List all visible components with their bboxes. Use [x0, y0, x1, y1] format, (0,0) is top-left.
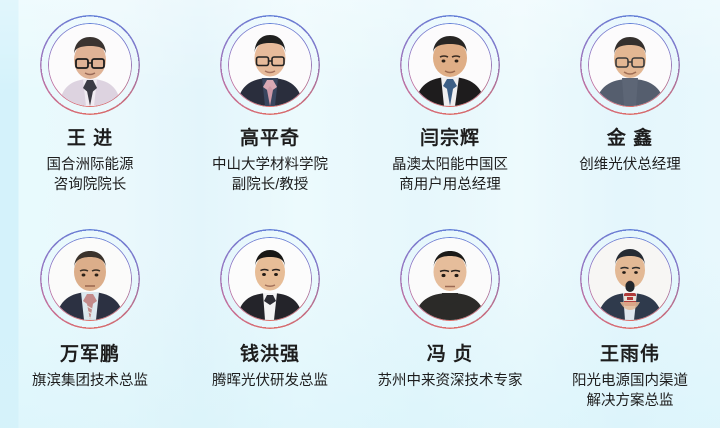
title-line: 副院长/教授 [212, 175, 328, 195]
title-line: 商用户用总经理 [392, 175, 508, 195]
speaker-title: 腾晖光伏研发总监 [212, 371, 328, 391]
title-line: 晶澳太阳能中国区 [392, 155, 508, 175]
portrait-photo [589, 24, 671, 106]
avatar [215, 224, 325, 334]
poster-canvas: 王 进 国合洲际能源 咨询院院长 [0, 0, 720, 428]
title-line: 中山大学材料学院 [212, 155, 328, 175]
speaker-title: 阳光电源国内渠道 解决方案总监 [572, 371, 688, 411]
portrait-photo [229, 238, 311, 320]
speaker-title: 晶澳太阳能中国区 商用户用总经理 [392, 155, 508, 195]
avatar [35, 10, 145, 120]
speaker-title: 旗滨集团技术总监 [32, 371, 148, 391]
speaker-title: 苏州中来资深技术专家 [378, 371, 523, 391]
portrait-photo [229, 24, 311, 106]
avatar [575, 10, 685, 120]
speaker-card[interactable]: 金 鑫 创维光伏总经理 [540, 0, 720, 214]
title-line: 创维光伏总经理 [579, 155, 681, 175]
title-line: 国合洲际能源 [47, 155, 134, 175]
speaker-name: 冯 贞 [427, 344, 473, 366]
speaker-name: 万军鹏 [60, 344, 120, 366]
speaker-name: 高平奇 [240, 128, 300, 150]
speaker-card[interactable]: 钱洪强 腾晖光伏研发总监 [180, 214, 360, 428]
speaker-name: 王雨伟 [600, 344, 660, 366]
speaker-card[interactable]: 王雨伟 阳光电源国内渠道 解决方案总监 [540, 214, 720, 428]
portrait-photo [49, 238, 131, 320]
portrait-photo [409, 24, 491, 106]
avatar [35, 224, 145, 334]
speaker-title: 国合洲际能源 咨询院院长 [47, 155, 134, 195]
speaker-name: 金 鑫 [607, 128, 653, 150]
portrait-photo [409, 238, 491, 320]
speaker-card[interactable]: 王 进 国合洲际能源 咨询院院长 [0, 0, 180, 214]
title-line: 阳光电源国内渠道 [572, 371, 688, 391]
avatar [395, 10, 505, 120]
speaker-card[interactable]: 万军鹏 旗滨集团技术总监 [0, 214, 180, 428]
portrait-photo [589, 238, 671, 320]
speaker-title: 创维光伏总经理 [579, 155, 681, 175]
speaker-grid: 王 进 国合洲际能源 咨询院院长 [0, 0, 720, 428]
portrait-photo [49, 24, 131, 106]
speaker-name: 闫宗辉 [420, 128, 480, 150]
speaker-name: 钱洪强 [240, 344, 300, 366]
avatar [395, 224, 505, 334]
speaker-title: 中山大学材料学院 副院长/教授 [212, 155, 328, 195]
avatar [575, 224, 685, 334]
speaker-card[interactable]: 冯 贞 苏州中来资深技术专家 [360, 214, 540, 428]
speaker-name: 王 进 [67, 128, 113, 150]
title-line: 腾晖光伏研发总监 [212, 371, 328, 391]
avatar [215, 10, 325, 120]
speaker-card[interactable]: 高平奇 中山大学材料学院 副院长/教授 [180, 0, 360, 214]
title-line: 解决方案总监 [572, 391, 688, 411]
title-line: 苏州中来资深技术专家 [378, 371, 523, 391]
title-line: 咨询院院长 [47, 175, 134, 195]
speaker-card[interactable]: 闫宗辉 晶澳太阳能中国区 商用户用总经理 [360, 0, 540, 214]
title-line: 旗滨集团技术总监 [32, 371, 148, 391]
